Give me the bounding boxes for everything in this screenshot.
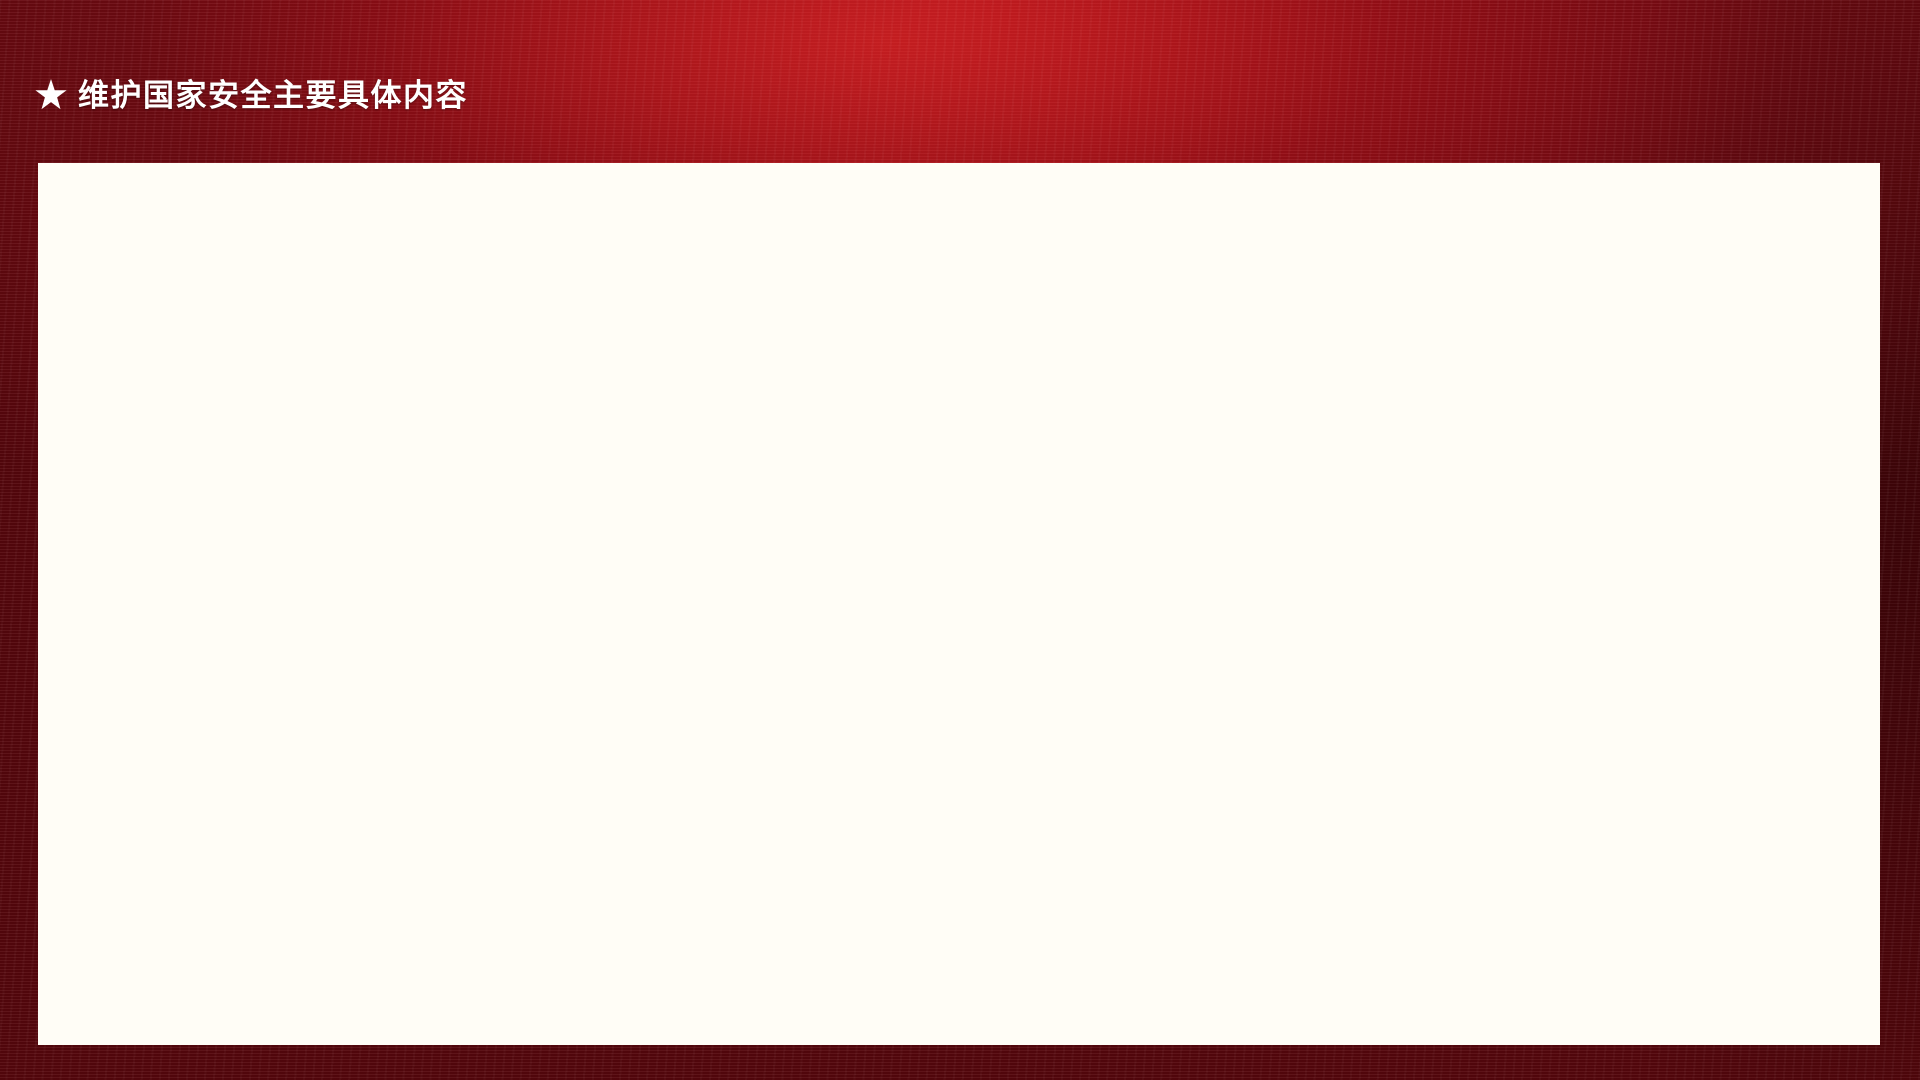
- page-title: 维护国家安全主要具体内容: [34, 78, 468, 112]
- page-title-text: 维护国家安全主要具体内容: [78, 80, 468, 111]
- content-panel: [38, 163, 1880, 1045]
- slide-canvas: 维护国家安全主要具体内容 维护文化安全 文化是民族的血脉，是人民的精神家园 文化…: [0, 0, 1920, 1080]
- star-icon: [34, 78, 68, 112]
